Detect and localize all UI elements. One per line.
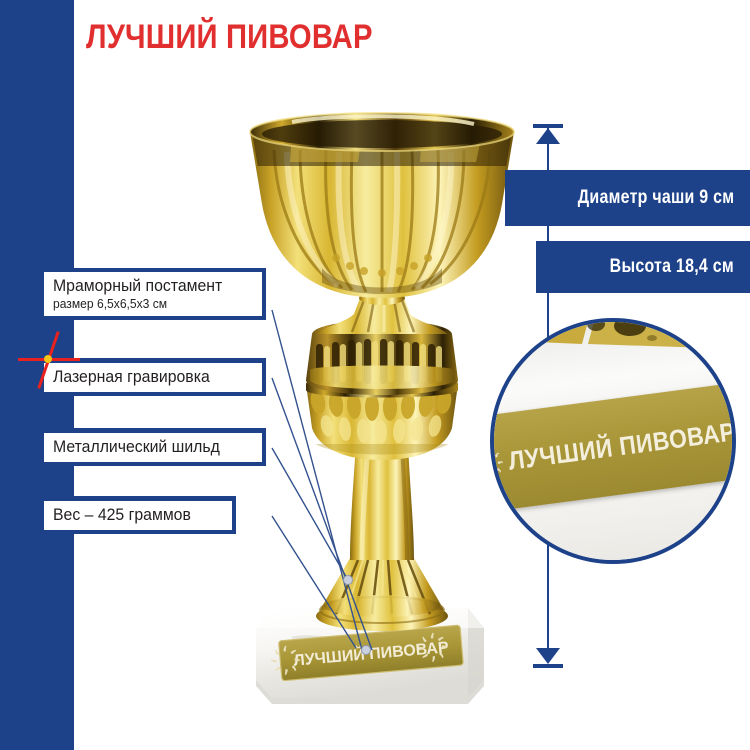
trophy-bowl — [250, 113, 514, 308]
svg-text:҉: ҉ — [269, 645, 303, 676]
nameplate-magnifier-inset: ҉ ЛУЧШИЙ ПИВОВАР ҉ — [490, 318, 736, 564]
base-plate-text: ЛУЧШИЙ ПИВОВАР — [293, 637, 450, 670]
magnifier-gold-foot — [534, 318, 724, 366]
feature-1-line1: Мраморный постамент — [53, 275, 239, 296]
infographic-page: ЛУЧШИЙ ПИВОВАР — [0, 0, 750, 750]
trophy-illustration: ЛУЧШИЙ ПИВОВАР ҉ ҉ — [232, 108, 532, 708]
feature-callout-3: Металлический шильд — [40, 428, 266, 466]
base-nameplate: ЛУЧШИЙ ПИВОВАР ҉ ҉ — [269, 625, 464, 682]
crosshair-center-dot — [44, 355, 52, 363]
dimension-bottom-cap — [533, 664, 563, 668]
dimension-callout-diameter: Диаметр чаши 9 см — [505, 170, 750, 226]
dimension-bottom-arrow-icon — [536, 648, 560, 664]
trophy-collar — [306, 321, 458, 396]
trophy-bulb — [302, 377, 462, 465]
feature-3-line1: Металлический шильд — [53, 436, 239, 457]
dimension-top-arrow-icon — [536, 128, 560, 144]
dimension-height-label: Высота 18,4 см — [610, 256, 734, 278]
page-title: ЛУЧШИЙ ПИВОВАР — [86, 17, 373, 57]
feature-callout-1: Мраморный постамент размер 6,5х6,5х3 см — [40, 268, 266, 320]
dimension-callout-height: Высота 18,4 см — [536, 241, 750, 293]
marble-base — [256, 608, 484, 704]
trophy-column — [350, 444, 414, 560]
plate-ornament-left-icon: ҉ — [490, 449, 491, 479]
red-crosshair-icon — [18, 332, 80, 388]
feature-2-line1: Лазерная гравировка — [53, 366, 239, 387]
feature-callout-4: Вес – 425 граммов — [40, 496, 236, 534]
trophy-foot — [316, 558, 448, 631]
dimension-diameter-label: Диаметр чаши 9 см — [577, 187, 734, 209]
svg-text:҉: ҉ — [417, 632, 451, 663]
feature-1-line2: размер 6,5х6,5х3 см — [53, 296, 239, 311]
magnifier-plate-text: ЛУЧШИЙ ПИВОВАР — [507, 416, 736, 477]
trophy-stem — [316, 291, 448, 334]
feature-4-line1: Вес – 425 граммов — [53, 504, 211, 525]
